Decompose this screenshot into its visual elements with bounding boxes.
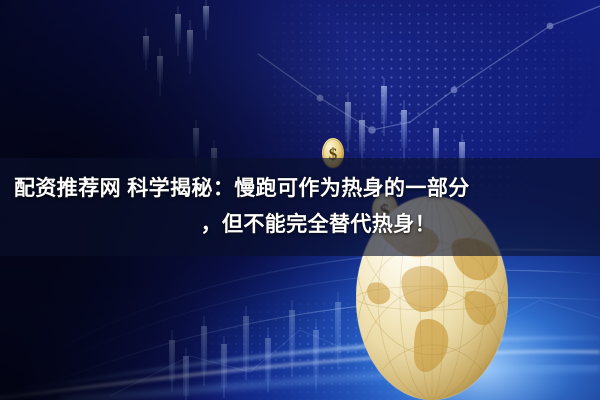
caption-line-2: ，但不能完全替代热身！ [201,207,588,243]
banner-image: $ $ [0,0,600,400]
caption-line-1: 配资推荐网 科学揭秘：慢跑可作为热身的一部分 [14,171,470,207]
caption-text-block: 配资推荐网 科学揭秘：慢跑可作为热身的一部分 ，但不能完全替代热身！ [0,158,600,256]
